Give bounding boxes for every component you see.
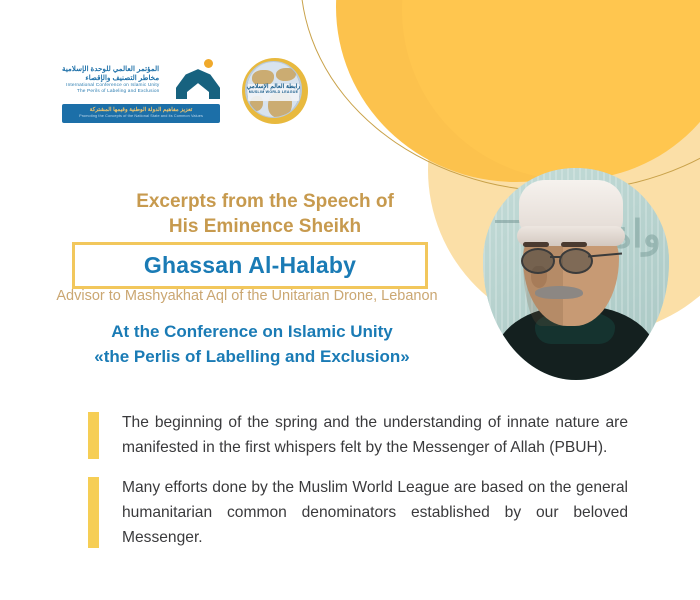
conference-tagline-arabic: تعزيز مفاهيم الدولة الوطنية وقيمها المشت… <box>66 107 216 114</box>
crescent-icon <box>204 59 213 68</box>
conference-logo-text: المؤتمر العالمي للوحدة الإسلامية مخاطر ا… <box>62 65 159 92</box>
conference-english-line-2: The Perils of Labeling and Exclusion <box>77 87 160 93</box>
globe-icon: رابطة العالم الإسلامي MUSLIM WORLD LEAGU… <box>245 61 302 118</box>
quote-text: Many efforts done by the Muslim World Le… <box>122 475 628 551</box>
portrait-glasses <box>519 248 623 270</box>
quote-item: Many efforts done by the Muslim World Le… <box>88 475 628 551</box>
thin-circle-outline-shape <box>300 0 700 192</box>
conference-logo: المؤتمر العالمي للوحدة الإسلامية مخاطر ا… <box>62 59 220 123</box>
glasses-bridge <box>550 256 561 258</box>
yellow-circle-shape-front <box>402 0 700 180</box>
conference-title: At the Conference on Islamic Unity «the … <box>52 320 452 369</box>
glasses-lens-right <box>559 248 593 274</box>
muslim-world-league-logo: رابطة العالم الإسلامي MUSLIM WORLD LEAGU… <box>242 58 308 124</box>
yellow-circle-shape-back <box>336 0 696 182</box>
conference-title-line-1: At the Conference on Islamic Unity <box>52 320 452 345</box>
conference-tagline-english: Promoting the Concepts of the National S… <box>66 114 216 119</box>
quote-text: The beginning of the spring and the unde… <box>122 410 628 461</box>
speaker-name: Ghassan Al-Halaby <box>89 252 411 279</box>
quote-list: The beginning of the spring and the unde… <box>88 410 628 564</box>
headline-line-1: Excerpts from the Speech of <box>72 190 458 215</box>
quote-accent-bar <box>88 412 99 459</box>
portrait-eyebrow-right <box>561 242 587 247</box>
portrait-eyebrow-left <box>523 242 549 247</box>
quote-accent-bar <box>88 477 99 549</box>
quote-item: The beginning of the spring and the unde… <box>88 410 628 461</box>
speaker-role: Advisor to Mashyakhat Aql of the Unitari… <box>22 288 472 304</box>
glasses-lens-left <box>521 248 555 274</box>
speaker-portrait: واة <box>483 168 669 380</box>
mwl-english-text: MUSLIM WORLD LEAGUE <box>246 91 301 95</box>
page-title: Excerpts from the Speech of His Eminence… <box>72 190 458 239</box>
portrait-background-mark <box>495 220 521 223</box>
logo-row: المؤتمر العالمي للوحدة الإسلامية مخاطر ا… <box>62 58 308 124</box>
headline-line-2: His Eminence Sheikh <box>72 215 458 240</box>
conference-tagline-banner: تعزيز مفاهيم الدولة الوطنية وقيمها المشت… <box>62 104 220 123</box>
conference-logo-top: المؤتمر العالمي للوحدة الإسلامية مخاطر ا… <box>62 59 220 99</box>
glasses-temple <box>588 253 622 258</box>
portrait-mustache <box>535 286 583 299</box>
mwl-arabic-text: رابطة العالم الإسلامي <box>246 84 301 90</box>
mosque-arch-crescent-icon <box>176 59 220 99</box>
speech-excerpt-poster: المؤتمر العالمي للوحدة الإسلامية مخاطر ا… <box>0 0 700 600</box>
speaker-name-box: Ghassan Al-Halaby <box>72 242 428 289</box>
conference-title-line-2: «the Perlis of Labelling and Exclusion» <box>52 345 452 370</box>
